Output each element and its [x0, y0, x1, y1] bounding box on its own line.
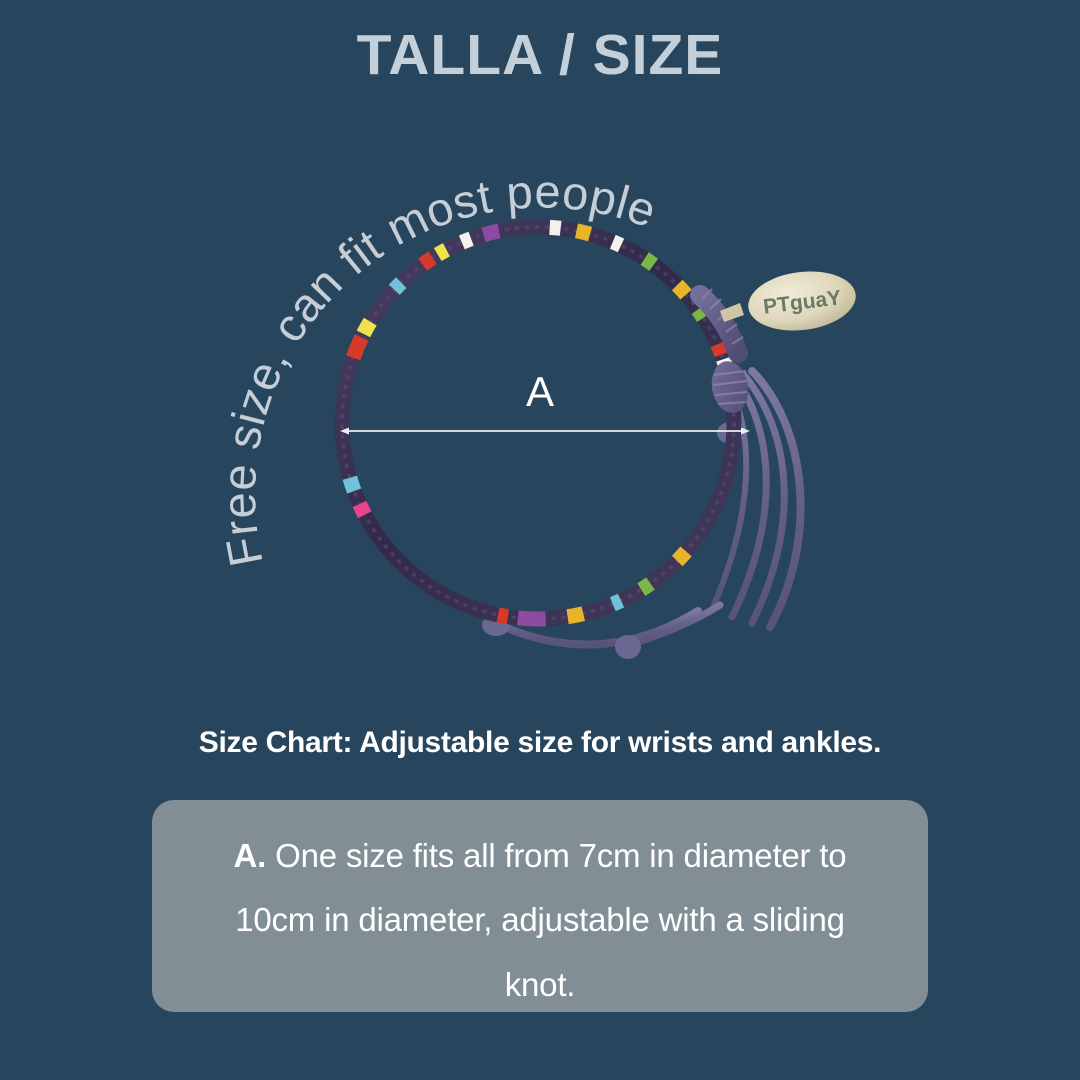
info-card-lead: A. — [234, 837, 267, 874]
cord-knot-right — [615, 635, 641, 659]
size-chart-infographic: TALLA / SIZE Free size, can fit most peo… — [0, 0, 1080, 1080]
arrow-head-right — [741, 428, 750, 435]
info-card-body: One size fits all from 7cm in diameter t… — [235, 837, 846, 1003]
arrow-head-left — [340, 428, 349, 435]
info-card-text: A. One size fits all from 7cm in diamete… — [196, 824, 884, 1017]
dimension-arrow — [340, 420, 750, 442]
brand-tag: PTguaY — [720, 266, 859, 337]
subtitle-text: Size Chart: Adjustable size for wrists a… — [0, 726, 1080, 760]
info-card: A. One size fits all from 7cm in diamete… — [152, 800, 928, 1012]
dimension-label: A — [0, 368, 1080, 416]
page-title: TALLA / SIZE — [0, 22, 1080, 88]
cord-tail-lower-right — [630, 605, 720, 645]
